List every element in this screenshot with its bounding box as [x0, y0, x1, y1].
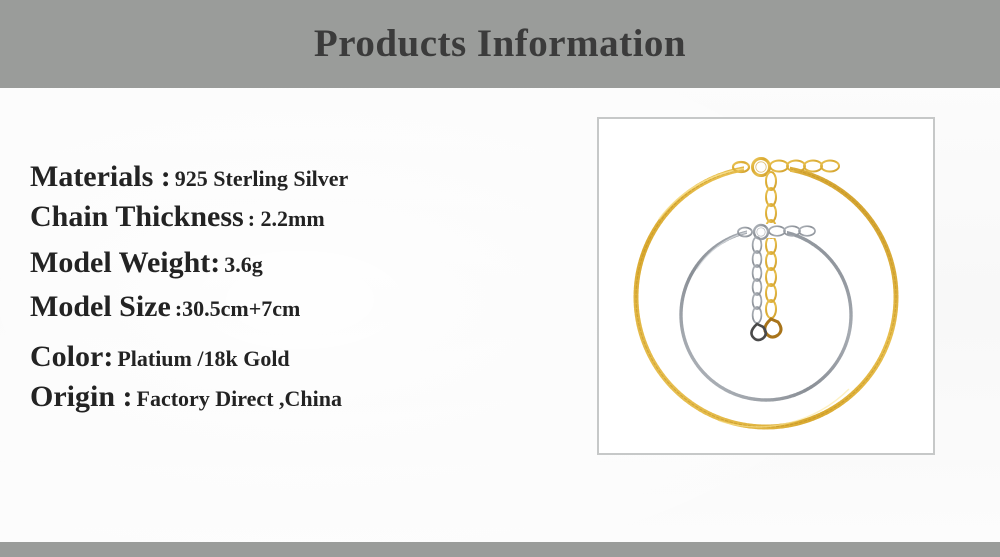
spec-value-materials: 925 Sterling Silver	[175, 166, 349, 191]
spec-row-chain-thickness: Chain Thickness : 2.2mm	[30, 200, 570, 234]
spec-value-color: Platium /18k Gold	[117, 346, 289, 371]
spec-row-model-size: Model Size :30.5cm+7cm	[30, 290, 570, 324]
spec-label-color: Color:	[30, 340, 113, 373]
spec-value-origin: Factory Direct ,China	[137, 386, 343, 411]
header-banner: Products Information	[0, 0, 1000, 88]
spec-row-materials: Materials : 925 Sterling Silver	[30, 160, 570, 194]
product-information-page: Products Information Materials : 925 Ste…	[0, 0, 1000, 557]
spec-row-origin: Origin : Factory Direct ,China	[30, 380, 570, 414]
spec-label-model-size: Model Size	[30, 290, 171, 323]
product-image-frame	[597, 117, 935, 455]
spec-label-model-weight: Model Weight:	[30, 246, 220, 279]
spec-value-model-size: :30.5cm+7cm	[175, 296, 301, 321]
spec-label-origin: Origin :	[30, 380, 133, 413]
spec-row-color: Color: Platium /18k Gold	[30, 340, 570, 374]
spec-label-materials: Materials :	[30, 160, 171, 193]
spec-row-model-weight: Model Weight: 3.6g	[30, 246, 570, 280]
page-title: Products Information	[0, 0, 1000, 88]
necklace-illustration	[599, 119, 933, 453]
spec-value-chain-thickness: : 2.2mm	[248, 206, 325, 231]
footer-bar	[0, 542, 1000, 557]
spec-label-chain-thickness: Chain Thickness	[30, 200, 244, 233]
specs-list: Materials : 925 Sterling Silver Chain Th…	[30, 160, 570, 414]
spec-value-model-weight: 3.6g	[224, 252, 263, 277]
